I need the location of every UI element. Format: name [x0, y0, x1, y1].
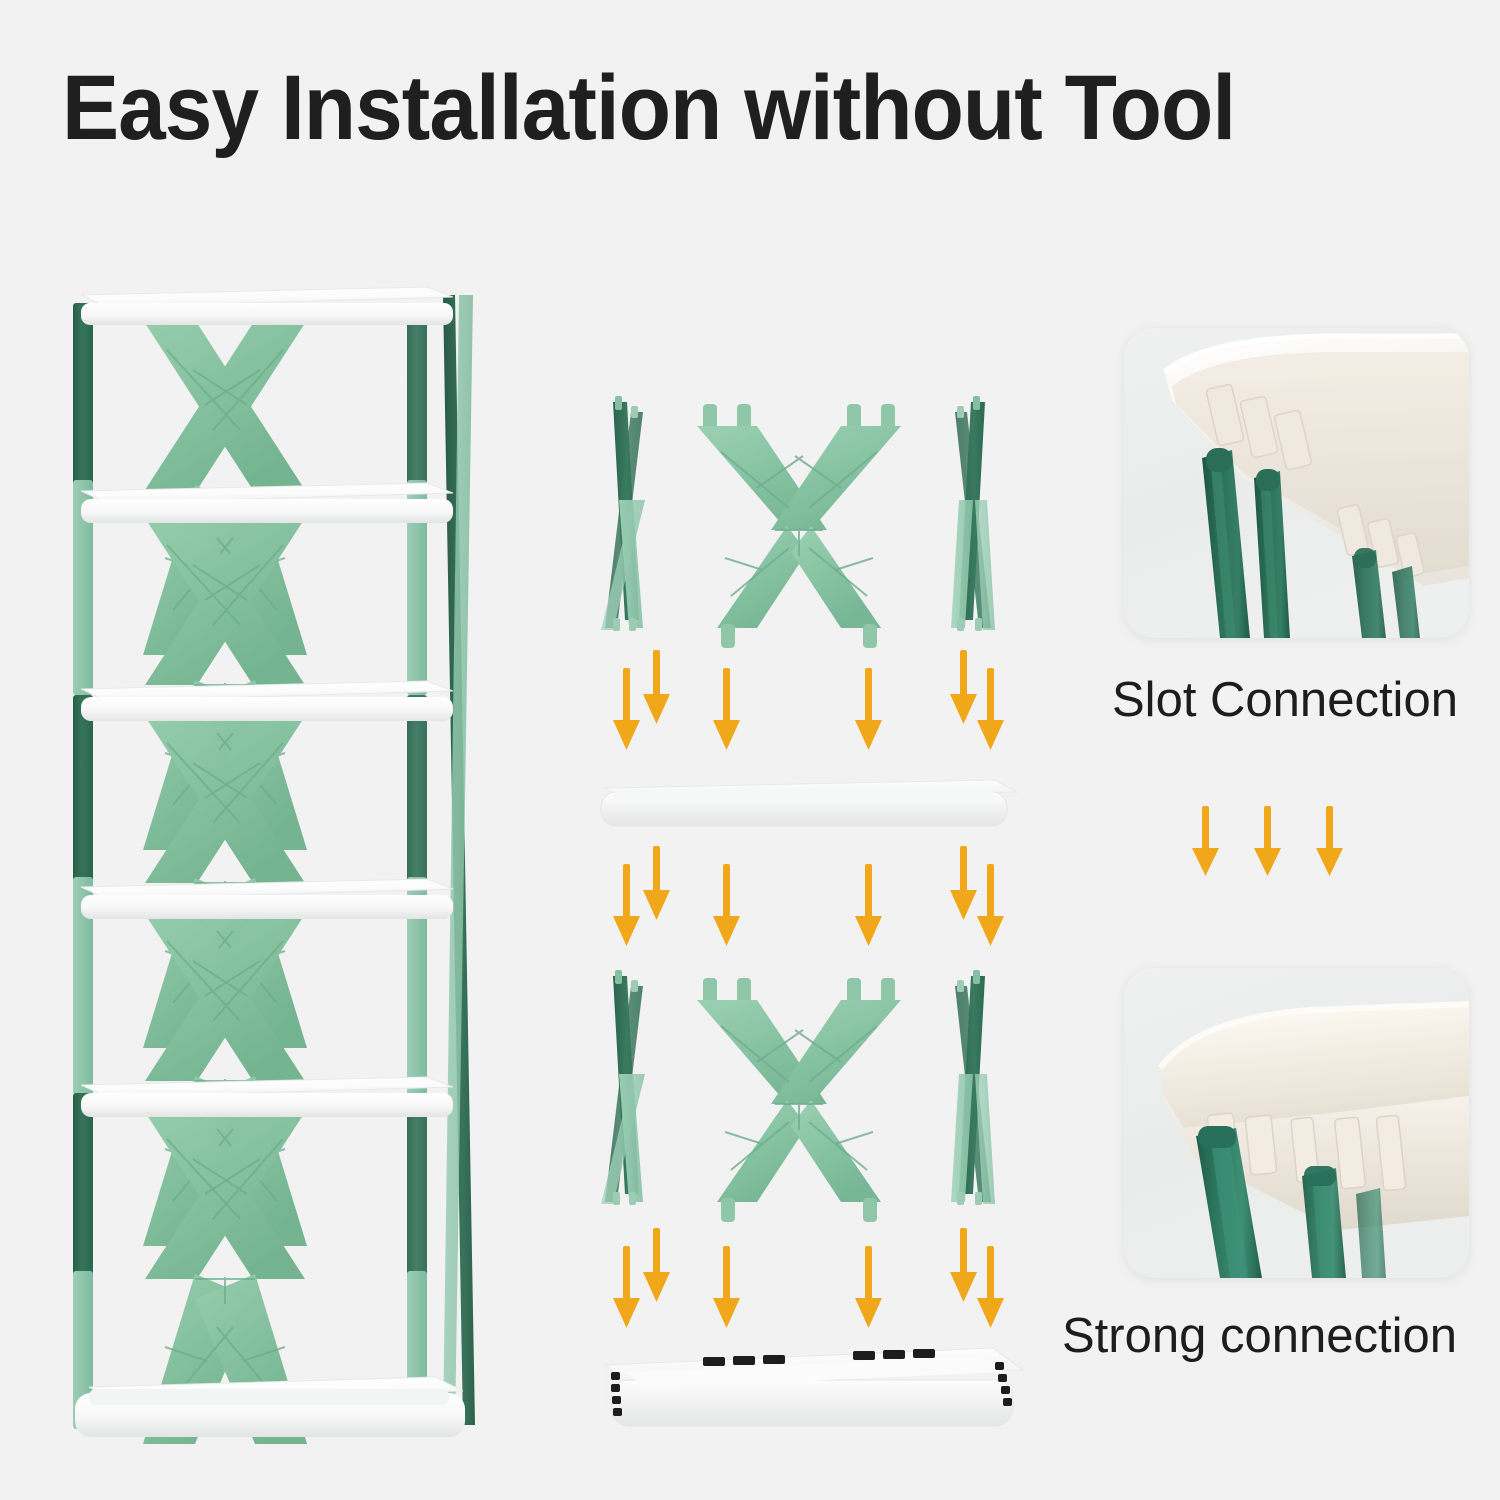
down-arrow — [950, 1228, 977, 1302]
right-arrow-row-graphic — [1180, 800, 1420, 890]
front-right-post-group — [407, 303, 427, 1429]
down-arrow — [643, 846, 670, 920]
down-arrow — [855, 1246, 882, 1328]
shelf-slab — [81, 879, 453, 919]
rear-right-post-group — [443, 295, 475, 1425]
strong-connection-photo-art — [1124, 968, 1469, 1278]
down-arrow — [977, 1246, 1004, 1328]
down-arrow — [855, 864, 882, 946]
slot-connection-photo — [1124, 328, 1469, 638]
post-bundle-right — [951, 970, 995, 1205]
shelf-slab — [81, 681, 453, 721]
down-arrow — [950, 650, 977, 724]
upper-x-brace-row — [601, 396, 995, 648]
down-arrow — [713, 864, 740, 946]
exploded-diagram-graphic — [575, 380, 1035, 1450]
x-brace-part — [697, 978, 901, 1222]
slot-connection-label: Slot Connection — [1112, 672, 1458, 728]
shelf-slab — [81, 287, 453, 325]
down-arrow — [613, 864, 640, 946]
down-arrow — [977, 864, 1004, 946]
x-brace-group — [143, 315, 307, 1444]
down-arrow — [950, 846, 977, 920]
arrow-row-1 — [613, 650, 1004, 750]
post-bundle-left — [601, 970, 645, 1205]
down-arrow — [713, 668, 740, 750]
down-arrow — [1316, 806, 1343, 876]
post-bundle-right — [951, 396, 995, 631]
page-title: Easy Installation without Tool — [62, 62, 1364, 156]
down-arrow — [613, 668, 640, 750]
strong-connection-label: Strong connection — [1062, 1308, 1457, 1364]
assembled-shelf-unit — [55, 265, 485, 1450]
down-arrow — [643, 650, 670, 724]
slot-connection-photo-art — [1124, 328, 1469, 638]
strong-connection-photo — [1124, 968, 1469, 1278]
shelf-plate — [601, 780, 1017, 826]
base-tray — [605, 1348, 1023, 1428]
base-tray — [75, 1377, 465, 1437]
shelf-unit-graphic — [55, 265, 485, 1450]
x-brace-part — [697, 404, 901, 648]
lower-x-brace-row — [601, 970, 995, 1222]
post-bundle-left — [601, 396, 645, 631]
right-panel-arrow-row — [1180, 800, 1420, 890]
down-arrow — [643, 1228, 670, 1302]
front-left-post-group — [73, 303, 93, 1429]
arrow-row-3 — [613, 1228, 1004, 1328]
exploded-assembly-diagram — [575, 380, 1035, 1450]
arrow-row-2 — [613, 846, 1004, 946]
down-arrow — [1254, 806, 1281, 876]
down-arrow — [855, 668, 882, 750]
infographic-page: Easy Installation without Tool — [0, 0, 1500, 1500]
down-arrow — [977, 668, 1004, 750]
down-arrow — [1192, 806, 1219, 876]
down-arrow — [613, 1246, 640, 1328]
shelf-slab — [81, 1077, 453, 1117]
shelf-slab — [81, 483, 453, 523]
down-arrow — [713, 1246, 740, 1328]
